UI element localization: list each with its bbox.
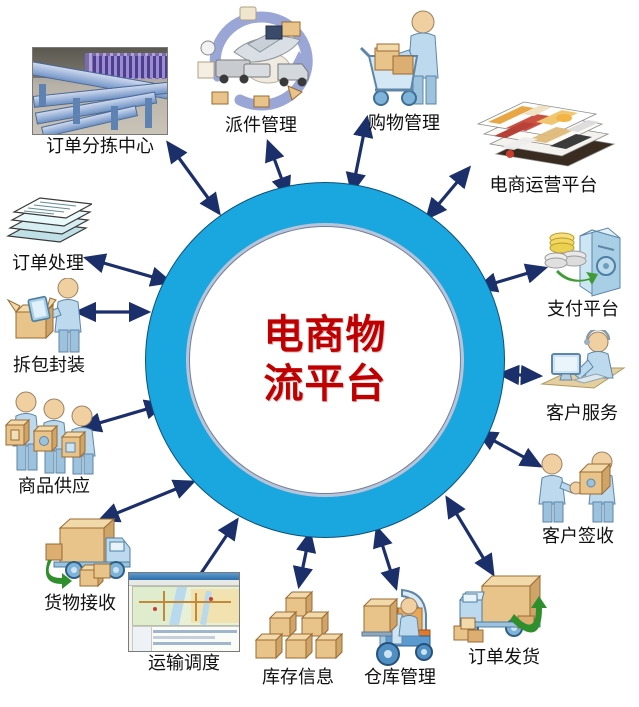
link-customer-service — [500, 374, 540, 376]
link-inventory-info — [299, 533, 310, 586]
node-goods-receiving[interactable]: 货物接收 — [24, 516, 136, 614]
node-order-shipping[interactable]: 订单发货 — [452, 570, 556, 668]
node-unpack-packaging[interactable]: 拆包封装 — [6, 278, 92, 376]
ring-inner: 电商物 流平台 — [189, 226, 461, 494]
webpage-stack-icon — [466, 92, 621, 174]
node-label: 派件管理 — [225, 116, 297, 136]
node-label: 货物接收 — [44, 594, 116, 614]
two-people-parcel-icon — [528, 450, 628, 525]
node-label: 订单发货 — [468, 648, 540, 668]
node-label: 拆包封装 — [13, 356, 85, 376]
center-title-line-1: 电商物 — [264, 311, 387, 360]
agent-desk-icon — [536, 330, 628, 402]
node-ecommerce-platform[interactable]: 电商运营平台 — [466, 92, 621, 196]
node-label: 支付平台 — [547, 300, 619, 320]
node-transport-scheduling[interactable]: 运输调度 — [128, 572, 240, 674]
node-inventory-info[interactable]: 库存信息 — [250, 588, 346, 688]
node-label: 订单处理 — [12, 254, 84, 274]
conveyor-photo-icon — [32, 47, 168, 135]
central-hub: 电商物 流平台 — [145, 182, 505, 538]
coins-safe-icon — [540, 222, 626, 298]
node-goods-supply[interactable]: 商品供应 — [4, 389, 104, 497]
three-people-parcel-icon — [4, 389, 104, 475]
open-carton-person-icon — [6, 278, 92, 354]
node-customer-signoff[interactable]: 客户签收 — [528, 450, 628, 547]
node-label: 电商运营平台 — [490, 176, 598, 196]
truck-inbound-icon — [24, 516, 136, 592]
node-order-sorting-center[interactable]: 订单分拣中心 — [32, 47, 168, 157]
forklift-icon — [352, 584, 448, 666]
page-title: 电商物 流平台 — [264, 311, 387, 409]
map-screen-icon — [128, 572, 240, 652]
node-payment-platform[interactable]: 支付平台 — [540, 222, 626, 320]
diagram-canvas: 电商物 流平台 订单分拣中心 — [0, 0, 639, 707]
node-order-processing[interactable]: 订单处理 — [4, 190, 92, 274]
node-dispatch-management[interactable]: 派件管理 — [196, 4, 326, 136]
carton-stack-icon — [250, 588, 346, 666]
truck-outbound-icon — [452, 570, 556, 646]
node-label: 库存信息 — [262, 668, 334, 688]
node-warehouse-management[interactable]: 仓库管理 — [352, 584, 448, 688]
node-customer-service[interactable]: 客户服务 — [536, 330, 628, 424]
node-label: 订单分拣中心 — [46, 137, 154, 157]
center-title-line-2: 流平台 — [264, 360, 387, 409]
node-label: 客户签收 — [542, 527, 614, 547]
node-label: 运输调度 — [148, 654, 220, 674]
node-label: 商品供应 — [18, 477, 90, 497]
node-label: 仓库管理 — [364, 668, 436, 688]
node-label: 客户服务 — [546, 404, 618, 424]
logistics-cycle-icon — [196, 4, 326, 114]
documents-stack-icon — [4, 190, 92, 252]
node-shopping-management[interactable]: 购物管理 — [357, 8, 451, 134]
shopping-cart-person-icon — [357, 8, 451, 112]
node-label: 购物管理 — [368, 114, 440, 134]
